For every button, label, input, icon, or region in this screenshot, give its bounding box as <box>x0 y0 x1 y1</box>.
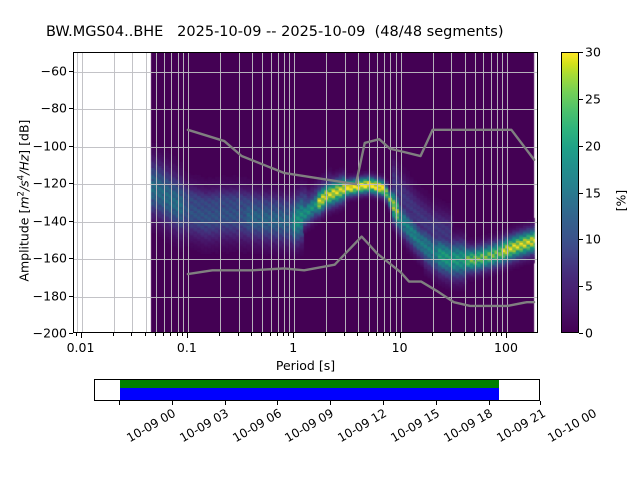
x-tick-minor <box>395 333 396 336</box>
y-tick-label: −60 <box>25 63 67 78</box>
colorbar-tick-label: 25 <box>585 91 601 106</box>
y-tick <box>69 221 73 222</box>
colorbar-tick <box>579 99 583 100</box>
colorbar-tick <box>579 146 583 147</box>
timeline-tick-label: 10-09 12 <box>336 406 390 445</box>
x-tick-minor <box>325 333 326 336</box>
x-tick-minor <box>357 333 358 336</box>
colorbar-tick <box>579 333 583 334</box>
timeline-tick-label: 10-09 00 <box>124 406 178 445</box>
y-tick <box>69 333 73 334</box>
colorbar-tick <box>579 286 583 287</box>
colorbar-tick-label: 15 <box>585 185 601 200</box>
timeline-tick-label: 10-09 18 <box>442 406 496 445</box>
timeline-tick-label: 10-09 06 <box>230 406 284 445</box>
x-tick-major <box>506 333 507 338</box>
timeline-tick <box>119 401 120 405</box>
y-tick-label: −200 <box>25 326 67 341</box>
timeline-tick <box>277 401 278 405</box>
x-tick-minor <box>368 333 369 336</box>
x-tick-label: 10 <box>392 340 408 355</box>
x-tick-minor <box>131 333 132 336</box>
x-tick-minor <box>432 333 433 336</box>
noise-model-nlnm <box>188 237 534 306</box>
timeline-tick <box>225 401 226 405</box>
x-tick-minor <box>283 333 284 336</box>
x-tick-major <box>293 333 294 338</box>
x-tick-major <box>81 333 82 338</box>
colorbar-tick <box>579 239 583 240</box>
y-tick <box>69 71 73 72</box>
x-tick-minor <box>170 333 171 336</box>
x-tick-minor <box>155 333 156 336</box>
x-tick-minor <box>501 333 502 336</box>
data-coverage-timeline[interactable] <box>94 379 540 401</box>
x-tick-minor <box>76 333 77 336</box>
x-tick-minor <box>261 333 262 336</box>
colorbar-tick-label: 5 <box>585 279 593 294</box>
x-tick-major <box>187 333 188 338</box>
x-tick-minor <box>496 333 497 336</box>
timeline-tick <box>172 401 173 405</box>
colorbar[interactable] <box>561 52 579 333</box>
x-tick-minor <box>383 333 384 336</box>
x-tick-minor <box>464 333 465 336</box>
x-tick-label: 1 <box>289 340 297 355</box>
y-tick <box>69 258 73 259</box>
colorbar-tick <box>579 52 583 53</box>
x-tick-minor <box>182 333 183 336</box>
colorbar-tick <box>579 193 583 194</box>
x-tick-minor <box>288 333 289 336</box>
y-tick <box>69 183 73 184</box>
x-tick-label: 100 <box>494 340 518 355</box>
x-tick-minor <box>277 333 278 336</box>
x-tick-minor <box>219 333 220 336</box>
ppsd-plot-area[interactable] <box>73 52 538 333</box>
x-tick-major <box>400 333 401 338</box>
timeline-data-coverage-blue <box>120 388 499 400</box>
colorbar-tick-label: 0 <box>585 326 593 341</box>
page-title: BW.MGS04..BHE 2025-10-09 -- 2025-10-09 (… <box>46 24 606 40</box>
x-axis-title: Period [s] <box>73 358 538 373</box>
x-tick-label: 0.1 <box>177 340 197 355</box>
x-tick-minor <box>251 333 252 336</box>
x-tick-minor <box>490 333 491 336</box>
noise-model-nhnm <box>188 130 534 184</box>
timeline-tick <box>436 401 437 405</box>
timeline-tick-label: 10-09 21 <box>495 406 549 445</box>
x-tick-minor <box>344 333 345 336</box>
x-tick-minor <box>238 333 239 336</box>
timeline-tick-label: 10-09 09 <box>283 406 337 445</box>
noise-model-overlay <box>74 53 538 333</box>
colorbar-title: [%] <box>614 171 629 231</box>
x-tick-minor <box>113 333 114 336</box>
y-tick <box>69 108 73 109</box>
x-tick-minor <box>389 333 390 336</box>
colorbar-tick-label: 30 <box>585 45 601 60</box>
x-tick-label: 0.01 <box>67 340 95 355</box>
x-tick-minor <box>145 333 146 336</box>
timeline-tick-label: 10-09 03 <box>177 406 231 445</box>
x-tick-minor <box>376 333 377 336</box>
x-tick-minor <box>450 333 451 336</box>
x-tick-minor <box>474 333 475 336</box>
x-tick-minor <box>270 333 271 336</box>
timeline-tick <box>540 401 541 405</box>
x-tick-minor <box>163 333 164 336</box>
x-tick-minor <box>482 333 483 336</box>
timeline-tick <box>330 401 331 405</box>
timeline-tick-label: 10-10 00 <box>545 406 599 445</box>
colorbar-tick-label: 20 <box>585 138 601 153</box>
timeline-tick-label: 10-09 15 <box>389 406 443 445</box>
timeline-tick <box>489 401 490 405</box>
colorbar-tick-label: 10 <box>585 232 601 247</box>
x-tick-minor <box>177 333 178 336</box>
y-tick <box>69 296 73 297</box>
timeline-tick <box>383 401 384 405</box>
timeline-data-coverage-green <box>120 380 499 388</box>
y-axis-title: Amplitude [m2/s4/Hz] [dB] <box>16 81 31 321</box>
y-tick <box>69 146 73 147</box>
